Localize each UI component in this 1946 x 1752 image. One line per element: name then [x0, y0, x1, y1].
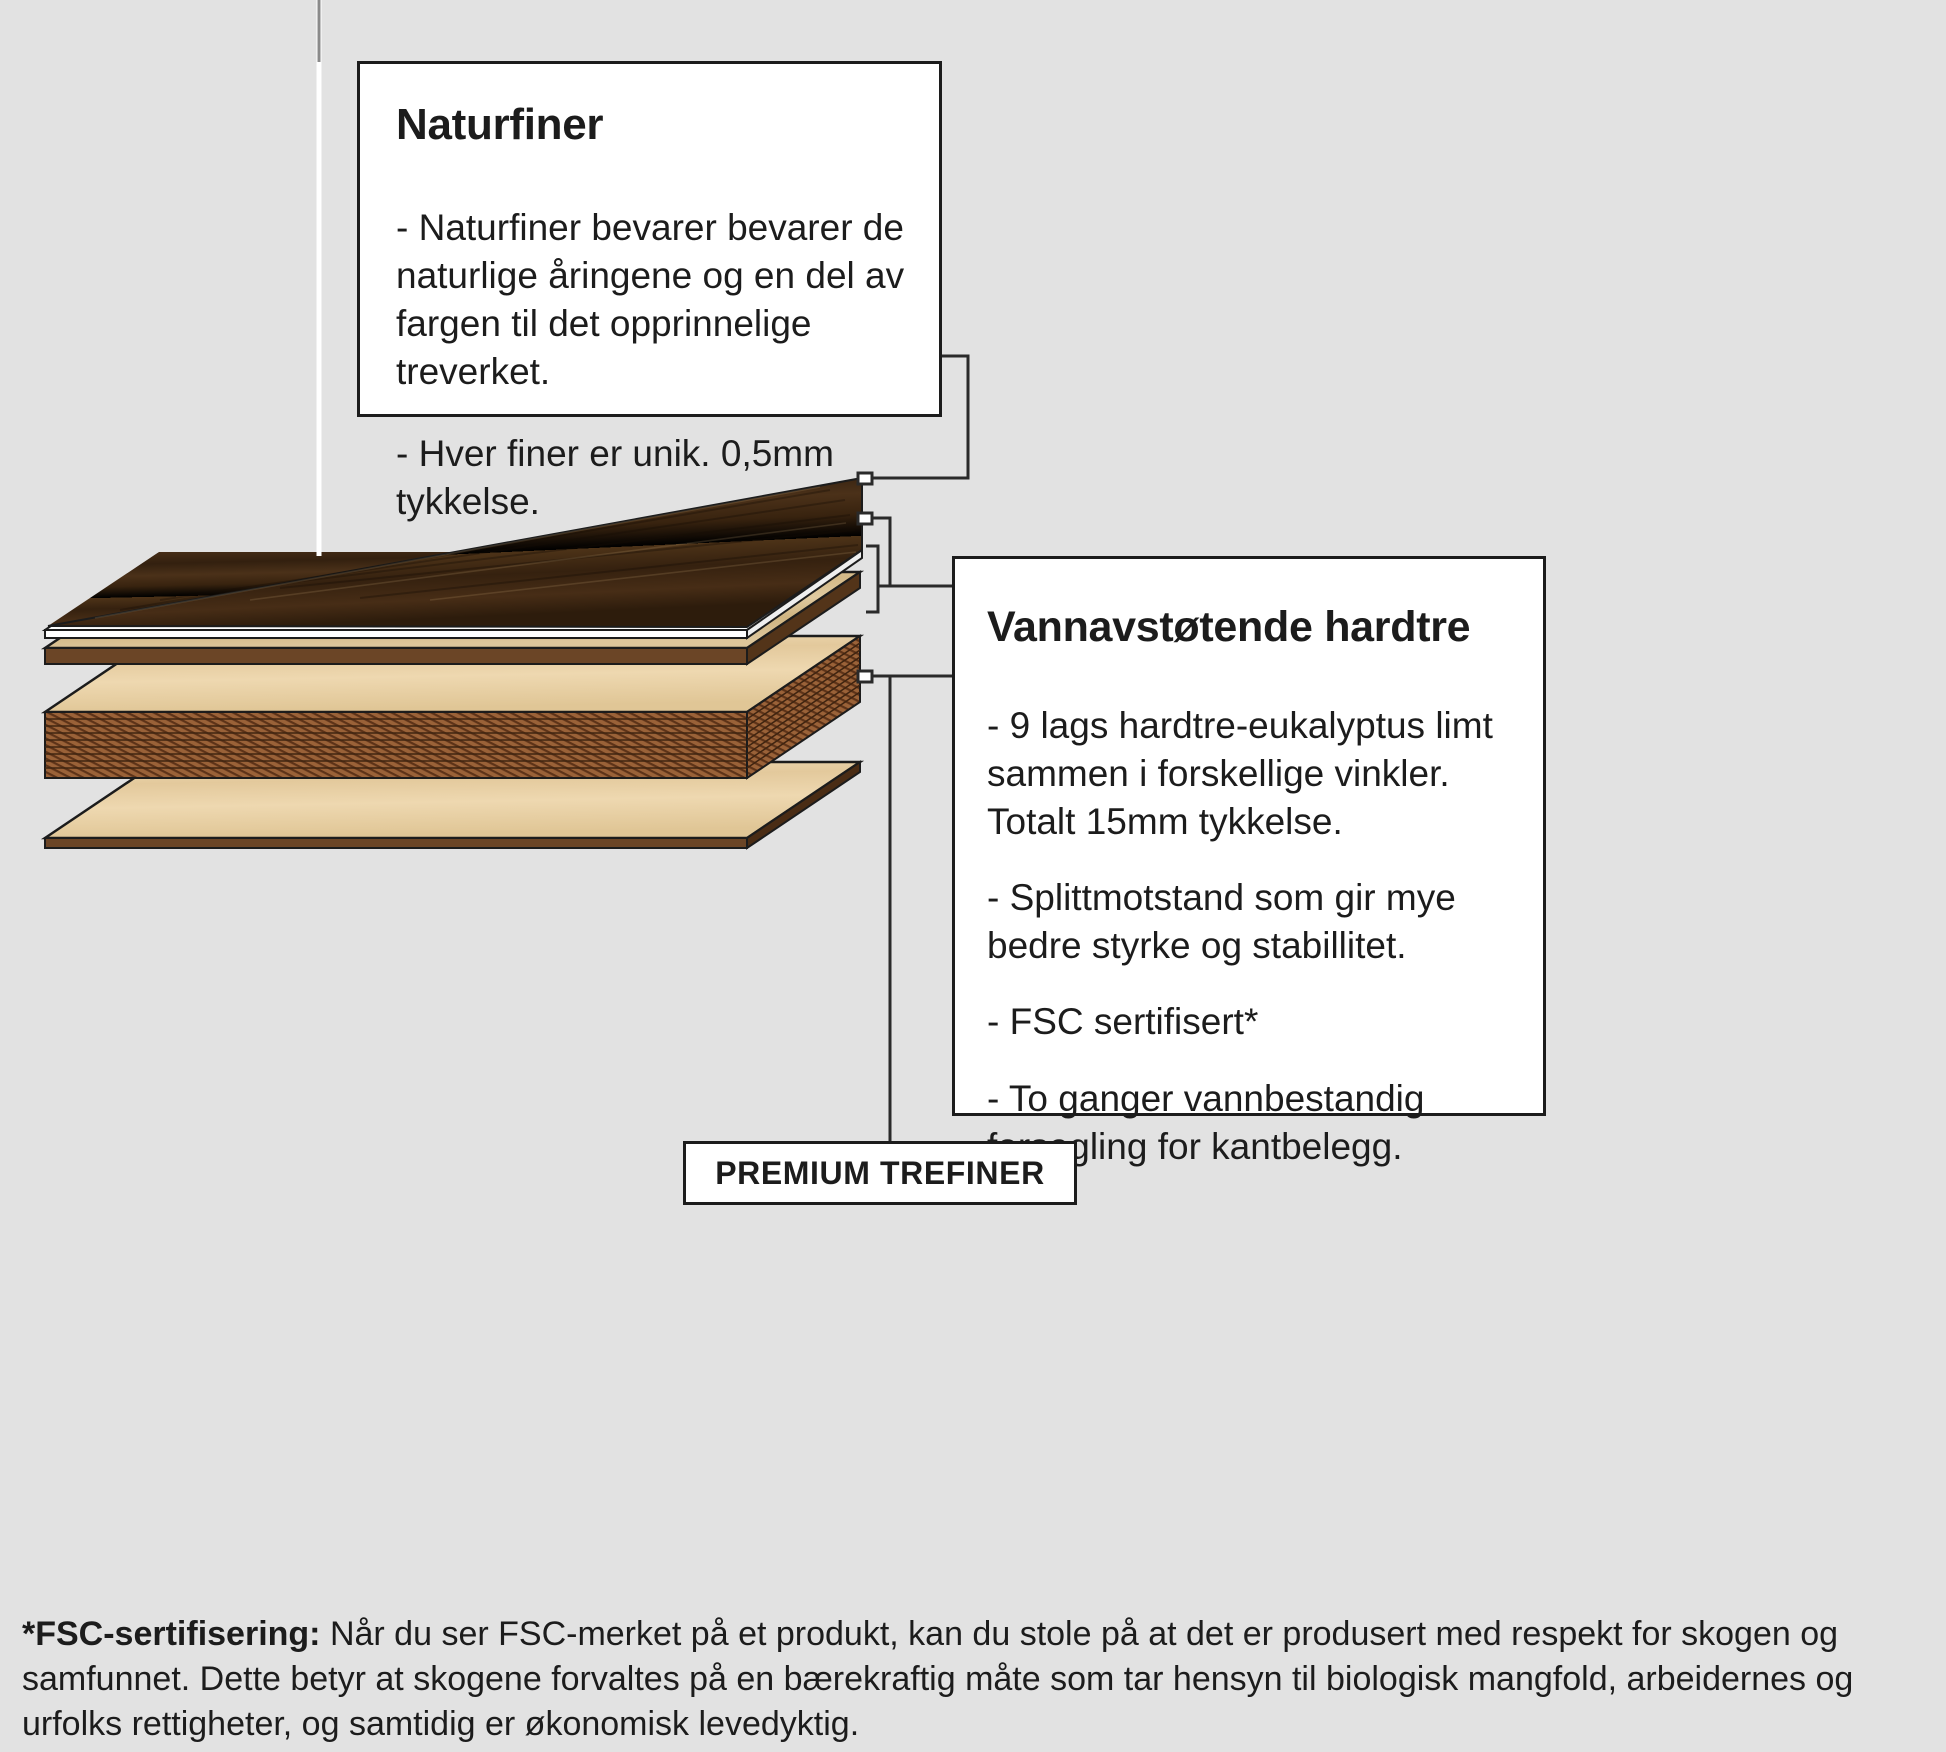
footnote-fsc: *FSC-sertifisering: Når du ser FSC-merke… — [22, 1612, 1922, 1747]
spacer — [987, 970, 1525, 998]
callout-hardtre-bullet-2: - Splittmotstand som gir mye bedre styrk… — [987, 874, 1525, 970]
callout-naturfiner-heading: Naturfiner — [396, 100, 909, 150]
callout-hardtre-heading: Vannavstøtende hardtre — [987, 603, 1525, 652]
callout-hardtre-bullet-1: - 9 lags hardtre-eukalyptus limt sammen … — [987, 702, 1525, 846]
diagram-canvas: Naturfiner - Naturfiner bevarer bevarer … — [0, 0, 1946, 1752]
spacer — [987, 1047, 1525, 1075]
callout-hardtre: Vannavstøtende hardtre - 9 lags hardtre-… — [952, 556, 1546, 1116]
callout-naturfiner-bullet-1: - Naturfiner bevarer bevarer de naturlig… — [396, 204, 909, 396]
callout-naturfiner-bullet-2: - Hver finer er unik. 0,5mm tykkelse. — [396, 430, 909, 526]
footnote-label: *FSC-sertifisering: — [22, 1615, 321, 1653]
spacer — [987, 846, 1525, 874]
spacer — [396, 396, 909, 430]
callout-naturfiner: Naturfiner - Naturfiner bevarer bevarer … — [357, 61, 942, 417]
label-premium-trefiner-text: PREMIUM TREFINER — [715, 1155, 1045, 1192]
callout-hardtre-bullet-3: - FSC sertifisert* — [987, 998, 1525, 1046]
label-premium-trefiner: PREMIUM TREFINER — [683, 1141, 1077, 1205]
